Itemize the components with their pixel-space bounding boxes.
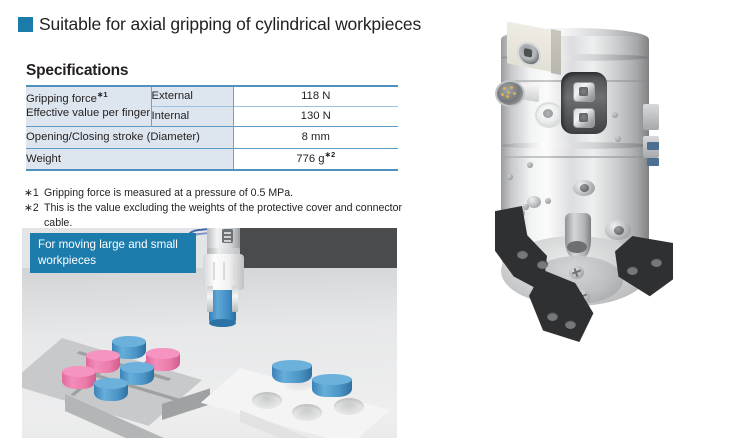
side-indicator	[647, 142, 659, 150]
jaw-bolt-hole	[537, 260, 548, 269]
row-label-stroke: Opening/Closing stroke (Diameter)	[26, 126, 233, 148]
table-row: Gripping force∗1 Effective value per fin…	[26, 86, 398, 106]
hex-bolt	[573, 82, 595, 102]
specifications-title: Specifications	[26, 62, 128, 80]
row-label-weight: Weight	[26, 148, 233, 170]
gripper-finger-left	[207, 286, 213, 312]
screw-dot	[507, 174, 513, 180]
workpiece-blue	[272, 360, 312, 386]
screw-dot	[545, 198, 551, 204]
counterbore-inner	[580, 184, 589, 192]
side-indicator	[647, 158, 659, 166]
workpiece-pink	[62, 366, 96, 389]
footnote-mark-1: ∗1	[24, 186, 39, 201]
gripper-body	[203, 254, 244, 290]
specifications-table: Gripping force∗1 Effective value per fin…	[26, 85, 398, 171]
sub-label-internal: Internal	[151, 106, 233, 126]
m12-connector-icon	[495, 80, 525, 107]
label-effective-value: Effective value per finger	[26, 107, 150, 119]
alignment-pin	[565, 213, 591, 259]
blue-square-bullet-icon	[18, 17, 33, 32]
footnotes: ∗1 Gripping force is measured at a press…	[24, 186, 424, 231]
jaw-bolt-hole	[651, 258, 662, 267]
value-weight-number: 776 g	[296, 153, 324, 165]
jaw-bolt-hole	[547, 312, 558, 321]
sensor-mount-side	[551, 29, 561, 75]
jaw-bolt-hole	[517, 250, 528, 259]
jaw-bolt-hole	[565, 320, 576, 329]
headline: Suitable for axial gripping of cylindric…	[18, 14, 421, 35]
product-ring	[501, 142, 649, 149]
screw-dot	[615, 136, 621, 142]
jaw-bolt-hole	[627, 266, 638, 275]
recess-tray	[240, 368, 397, 438]
side-bracket	[643, 104, 659, 130]
tray-recess	[334, 398, 364, 415]
gripper-finger-right	[232, 286, 238, 312]
value-internal-force: 130 N	[233, 106, 398, 126]
screw-dot	[612, 112, 618, 118]
air-port	[535, 102, 563, 128]
sub-label-external: External	[151, 86, 233, 106]
screw-dot	[527, 162, 533, 168]
table-row: Opening/Closing stroke (Diameter) 8 mm	[26, 126, 398, 148]
application-photo: For moving large and small workpieces	[22, 228, 397, 438]
label-gripping-force: Gripping force	[26, 93, 97, 105]
product-photo	[455, 8, 740, 388]
footnote-text-2: This is the value excluding the weights …	[44, 201, 424, 231]
hex-bolt	[573, 108, 595, 128]
value-stroke: 8 mm	[233, 126, 398, 148]
value-weight: 776 g∗2	[233, 148, 398, 170]
counterbore-inner	[614, 226, 624, 235]
chuck-screw	[569, 266, 584, 279]
workpiece-blue	[94, 378, 128, 401]
counterbore	[527, 196, 541, 208]
footnote-marker-1: ∗1	[97, 90, 108, 99]
compartment-tray	[62, 338, 220, 430]
footnote-item: ∗2 This is the value excluding the weigh…	[24, 201, 424, 231]
footnote-item: ∗1 Gripping force is measured at a press…	[24, 186, 424, 201]
tray-recess	[252, 392, 282, 409]
product-seam	[501, 156, 649, 158]
footnote-marker-2: ∗2	[325, 150, 336, 159]
gripper-connector	[222, 229, 233, 243]
photo-badge: For moving large and small workpieces	[30, 233, 196, 273]
footnote-text-1: Gripping force is measured at a pressure…	[44, 186, 424, 201]
workpiece-blue	[312, 374, 352, 400]
tray-recess	[292, 404, 322, 421]
row-label-gripping-force: Gripping force∗1 Effective value per fin…	[26, 86, 151, 126]
page-root: Suitable for axial gripping of cylindric…	[0, 0, 745, 445]
value-external-force: 118 N	[233, 86, 398, 106]
headline-text: Suitable for axial gripping of cylindric…	[39, 14, 421, 35]
table-row: Weight 776 g∗2	[26, 148, 398, 170]
footnote-mark-2: ∗2	[24, 201, 39, 231]
